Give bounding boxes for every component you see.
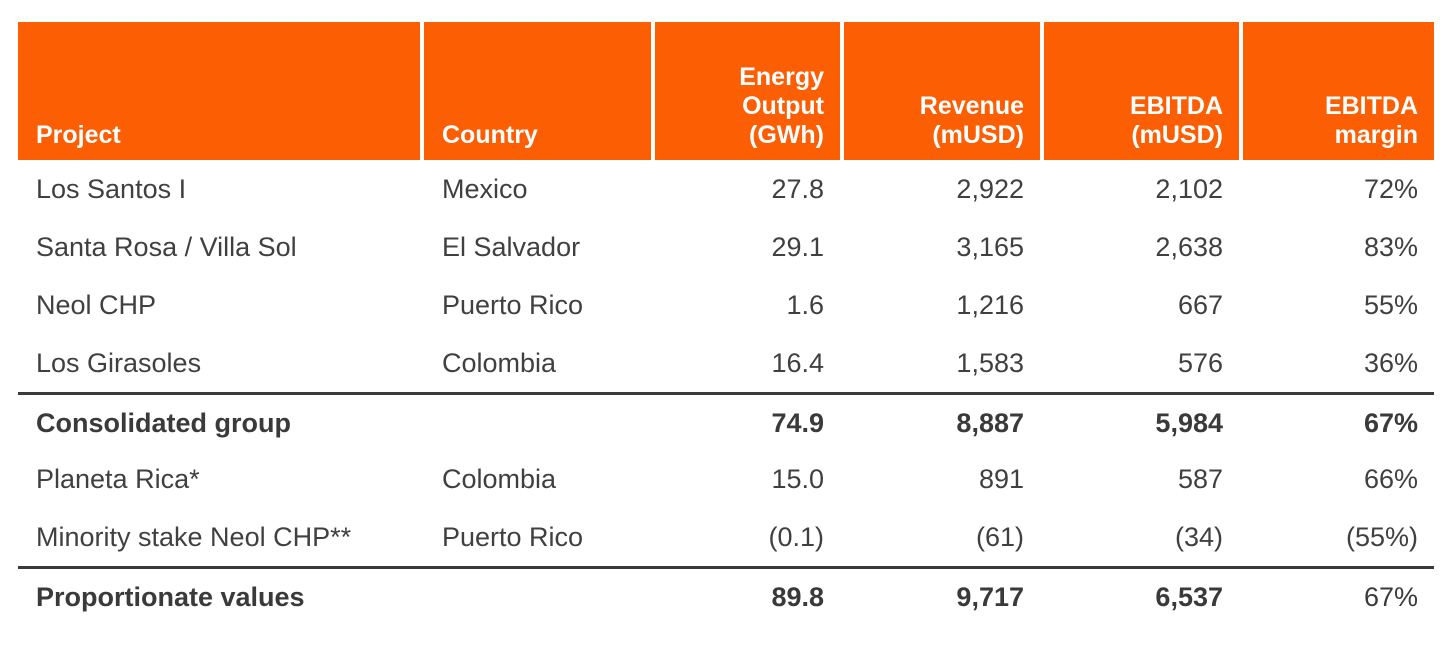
cell-ebitda: 2,638	[1044, 231, 1239, 263]
cell-revenue: (61)	[844, 521, 1040, 553]
column-header-ebitda-line-0: EBITDA	[1130, 92, 1223, 121]
table-row: Santa Rosa / Villa Sol El Salvador 29.1 …	[18, 218, 1434, 276]
column-header-ebitda-margin-line-1: margin	[1335, 121, 1418, 150]
column-header-ebitda-line-1: (mUSD)	[1131, 121, 1223, 150]
table-row: Neol CHP Puerto Rico 1.6 1,216 667 55%	[18, 276, 1434, 334]
cell-ebitda-margin: 83%	[1243, 231, 1434, 263]
financial-summary-table: Project Country Energy Output (GWh) Reve…	[18, 22, 1434, 624]
cell-ebitda-margin: 67%	[1243, 407, 1434, 439]
cell-ebitda-margin: 67%	[1243, 581, 1434, 613]
cell-ebitda-margin: (55%)	[1243, 521, 1434, 553]
cell-project: Proportionate values	[18, 581, 420, 613]
cell-country: Colombia	[424, 463, 651, 495]
column-header-country-line-0: Country	[442, 121, 538, 150]
table-row-subtotal-consolidated: Consolidated group 74.9 8,887 5,984 67%	[18, 392, 1434, 450]
cell-energy-output: 27.8	[655, 173, 840, 205]
cell-ebitda: 5,984	[1044, 407, 1239, 439]
cell-country: Puerto Rico	[424, 521, 651, 553]
cell-revenue: 8,887	[844, 407, 1040, 439]
column-header-ebitda-margin-line-0: EBITDA	[1325, 92, 1418, 121]
cell-revenue: 1,583	[844, 347, 1040, 379]
table-body: Los Santos I Mexico 27.8 2,922 2,102 72%…	[18, 160, 1434, 624]
cell-energy-output: 16.4	[655, 347, 840, 379]
cell-project: Los Santos I	[18, 173, 420, 205]
cell-project: Los Girasoles	[18, 347, 420, 379]
column-header-energy-output: Energy Output (GWh)	[655, 22, 840, 160]
cell-ebitda-margin: 72%	[1243, 173, 1434, 205]
column-header-energy-output-line-0: Energy	[739, 63, 824, 92]
cell-revenue: 1,216	[844, 289, 1040, 321]
cell-project: Planeta Rica*	[18, 463, 420, 495]
table-header-row: Project Country Energy Output (GWh) Reve…	[18, 22, 1434, 160]
cell-ebitda-margin: 36%	[1243, 347, 1434, 379]
cell-ebitda: 667	[1044, 289, 1239, 321]
cell-project: Minority stake Neol CHP**	[18, 521, 420, 553]
cell-revenue: 2,922	[844, 173, 1040, 205]
cell-project: Santa Rosa / Villa Sol	[18, 231, 420, 263]
cell-country: Colombia	[424, 347, 651, 379]
table-row-total-proportionate: Proportionate values 89.8 9,717 6,537 67…	[18, 566, 1434, 624]
cell-ebitda: (34)	[1044, 521, 1239, 553]
cell-country: El Salvador	[424, 231, 651, 263]
cell-ebitda-margin: 66%	[1243, 463, 1434, 495]
cell-revenue: 3,165	[844, 231, 1040, 263]
cell-revenue: 891	[844, 463, 1040, 495]
cell-ebitda: 2,102	[1044, 173, 1239, 205]
table-row: Los Girasoles Colombia 16.4 1,583 576 36…	[18, 334, 1434, 392]
cell-ebitda: 587	[1044, 463, 1239, 495]
cell-project: Neol CHP	[18, 289, 420, 321]
column-header-project: Project	[18, 22, 420, 160]
table-row: Planeta Rica* Colombia 15.0 891 587 66%	[18, 450, 1434, 508]
cell-country: Mexico	[424, 173, 651, 205]
cell-ebitda-margin: 55%	[1243, 289, 1434, 321]
column-header-energy-output-line-1: Output	[742, 92, 824, 121]
column-header-revenue-line-0: Revenue	[920, 92, 1024, 121]
column-header-ebitda: EBITDA (mUSD)	[1044, 22, 1239, 160]
column-header-energy-output-line-2: (GWh)	[749, 121, 824, 150]
column-header-revenue: Revenue (mUSD)	[844, 22, 1040, 160]
cell-energy-output: 74.9	[655, 407, 840, 439]
cell-project: Consolidated group	[18, 407, 420, 439]
column-header-revenue-line-1: (mUSD)	[932, 121, 1024, 150]
cell-energy-output: 29.1	[655, 231, 840, 263]
table-row: Minority stake Neol CHP** Puerto Rico (0…	[18, 508, 1434, 566]
cell-revenue: 9,717	[844, 581, 1040, 613]
column-header-project-line-0: Project	[36, 121, 121, 150]
column-header-country: Country	[424, 22, 651, 160]
cell-ebitda: 576	[1044, 347, 1239, 379]
table-row: Los Santos I Mexico 27.8 2,922 2,102 72%	[18, 160, 1434, 218]
cell-energy-output: 1.6	[655, 289, 840, 321]
column-header-ebitda-margin: EBITDA margin	[1243, 22, 1434, 160]
cell-energy-output: (0.1)	[655, 521, 840, 553]
cell-country: Puerto Rico	[424, 289, 651, 321]
cell-energy-output: 89.8	[655, 581, 840, 613]
cell-ebitda: 6,537	[1044, 581, 1239, 613]
cell-energy-output: 15.0	[655, 463, 840, 495]
